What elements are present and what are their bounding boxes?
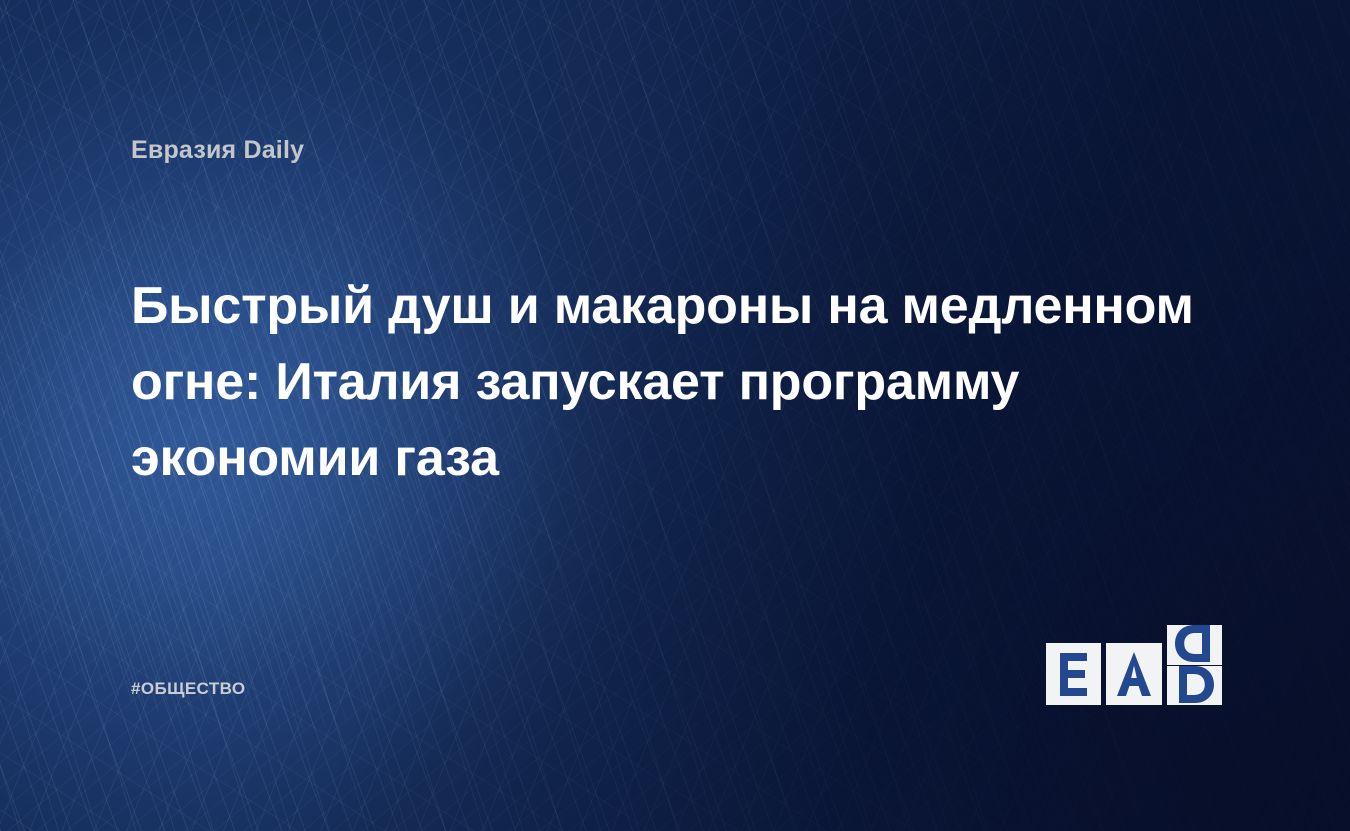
logo-tile-d-rotated	[1167, 625, 1222, 665]
brand-name: Евразия Daily	[131, 136, 304, 165]
headline: Быстрый душ и макароны на медленном огне…	[131, 268, 1201, 496]
logo-tile-a	[1106, 643, 1162, 705]
social-share-card: Евразия Daily Быстрый душ и макароны на …	[0, 0, 1350, 831]
eadaily-logo[interactable]	[1046, 625, 1222, 705]
logo-tile-d	[1167, 666, 1222, 705]
rubric-tag[interactable]: #ОБЩЕСТВО	[131, 679, 245, 699]
logo-tile-e	[1046, 643, 1101, 705]
